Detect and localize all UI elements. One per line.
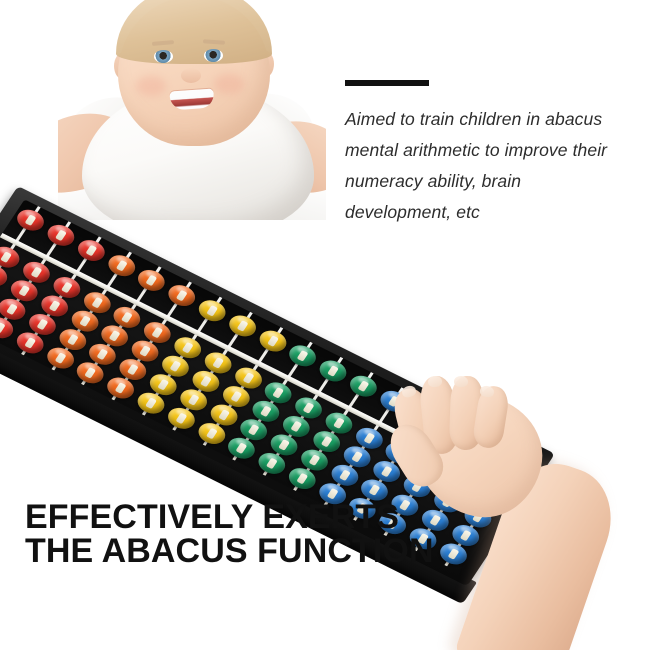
baby-cheek-right: [214, 74, 244, 94]
headline: EFFECTIVELY EXERTS THE ABACUS FUNCTION: [25, 500, 434, 568]
baby-eye-left: [154, 50, 173, 63]
baby-eye-right: [204, 49, 223, 62]
product-image-canvas: Aimed to train children in abacus mental…: [0, 0, 650, 650]
baby-hair: [116, 0, 272, 64]
callout-line-2: mental arithmetic to improve their: [345, 135, 637, 166]
callout-rule: [345, 80, 429, 86]
headline-line-2: THE ABACUS FUNCTION: [25, 534, 434, 568]
fingernail-ring: [454, 376, 469, 388]
headline-line-1: EFFECTIVELY EXERTS: [25, 500, 434, 534]
callout-line-1: Aimed to train children in abacus: [345, 104, 637, 135]
baby-nose: [181, 68, 201, 83]
baby-cheek-left: [136, 76, 166, 96]
